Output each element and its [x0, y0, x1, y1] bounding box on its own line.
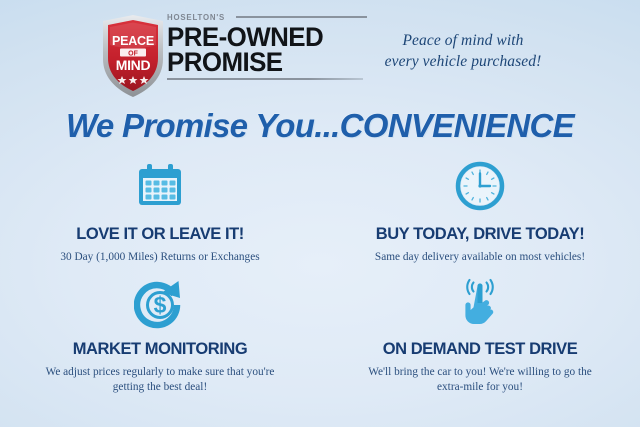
feature-description: We adjust prices regularly to make sure … [35, 365, 285, 394]
feature-title: ON DEMAND TEST DRIVE [383, 340, 578, 359]
header-tagline: Peace of mind with every vehicle purchas… [365, 30, 561, 72]
feature-title: BUY TODAY, DRIVE TODAY! [376, 225, 585, 244]
feature-buy-today-drive-today: BUY TODAY, DRIVE TODAY! Same day deliver… [320, 158, 640, 276]
header: PEACE OF MIND HOSELTON'S PRE-OWNED PROMI… [97, 8, 557, 104]
shield-line-3: MIND [116, 57, 151, 73]
clock-icon [454, 158, 506, 214]
brand-title-block: HOSELTON'S PRE-OWNED PROMISE [167, 10, 367, 80]
promo-banner: PEACE OF MIND HOSELTON'S PRE-OWNED PROMI… [0, 0, 640, 427]
feature-love-it-or-leave-it: LOVE IT OR LEAVE IT! 30 Day (1,000 Miles… [0, 158, 320, 276]
tagline-line-1: Peace of mind with [365, 30, 561, 51]
feature-on-demand-test-drive: ON DEMAND TEST DRIVE We'll bring the car… [320, 276, 640, 394]
shield-badge-icon: PEACE OF MIND [97, 12, 169, 100]
feature-description: Same day delivery available on most vehi… [375, 250, 585, 265]
feature-title: MARKET MONITORING [73, 340, 247, 359]
shield-line-1: PEACE [112, 34, 154, 48]
brand-title-line2: PROMISE [167, 50, 359, 75]
dollar-glyph: $ [154, 292, 167, 318]
feature-market-monitoring: $ MARKET MONITORING We adjust prices reg… [0, 276, 320, 394]
features-grid: LOVE IT OR LEAVE IT! 30 Day (1,000 Miles… [0, 158, 640, 394]
main-headline: We Promise You...CONVENIENCE [0, 107, 640, 145]
tagline-line-2: every vehicle purchased! [365, 51, 561, 72]
calendar-icon [134, 158, 186, 214]
feature-description: We'll bring the car to you! We're willin… [355, 365, 605, 394]
dollar-refresh-icon: $ [134, 276, 186, 329]
feature-title: LOVE IT OR LEAVE IT! [76, 225, 244, 244]
kicker-rule [236, 16, 367, 18]
brand-title-rule [167, 78, 363, 80]
feature-description: 30 Day (1,000 Miles) Returns or Exchange… [60, 250, 259, 265]
brand-kicker: HOSELTON'S [167, 12, 225, 22]
tap-hand-icon [454, 276, 506, 329]
